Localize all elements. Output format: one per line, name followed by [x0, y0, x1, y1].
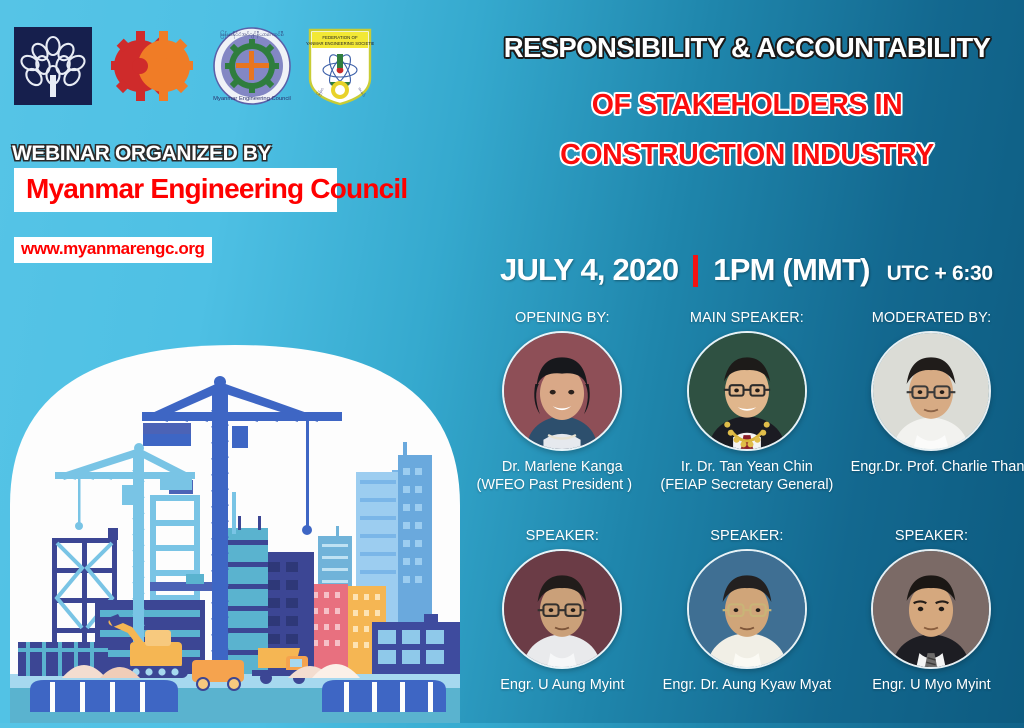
feiap-logo	[106, 27, 198, 110]
speaker-name: Engr. Dr. Aung Kyaw Myat	[663, 676, 831, 694]
construction-site-illustration	[0, 330, 470, 723]
svg-text:Myanmar Engineering Council: Myanmar Engineering Council	[213, 96, 291, 102]
event-datetime: JULY 4, 2020 1PM (MMT) UTC + 6:30	[500, 252, 993, 288]
datetime-divider	[693, 255, 698, 287]
photo-aung-myint	[502, 549, 622, 669]
website-box: www.myanmarengc.org	[14, 237, 212, 263]
wfeo-logo	[14, 27, 92, 110]
svg-text:MYANMAR ENGINEERING SOCIETIES: MYANMAR ENGINEERING SOCIETIES	[306, 41, 374, 46]
photo-aung-kyaw-myat	[687, 549, 807, 669]
svg-text:FEDERATION OF: FEDERATION OF	[322, 35, 358, 40]
event-timezone: UTC + 6:30	[887, 262, 993, 286]
speaker-card-myo-myint: SPEAKER: Engr. U	[839, 528, 1024, 694]
website-url[interactable]: www.myanmarengc.org	[21, 240, 205, 259]
speaker-card-aung-myint: SPEAKER: Engr	[470, 528, 655, 694]
title-line-main: RESPONSIBILITY & ACCOUNTABILITY	[470, 34, 1024, 62]
speaker-role-label: SPEAKER:	[710, 528, 783, 544]
photo-charlie-than	[871, 331, 991, 451]
speaker-row-top: OPENING BY: Dr. Marlene Kanga (WFEO	[470, 310, 1024, 494]
speaker-row-bottom: SPEAKER: Engr	[470, 528, 1024, 694]
speaker-name: Ir. Dr. Tan Yean Chin	[681, 458, 813, 476]
logo-row: မြန်မာနိုင်ငံအင်ဂျင်နီယာကောင်စီ Myanmar …	[14, 26, 374, 111]
event-time: 1PM (MMT)	[713, 252, 869, 288]
speaker-card-tan-yean-chin: MAIN SPEAKER:	[655, 310, 840, 494]
speaker-affiliation: (FEIAP Secretary General)	[660, 476, 833, 494]
organized-by-label: WEBINAR ORGANIZED BY	[12, 142, 271, 166]
event-date: JULY 4, 2020	[500, 252, 678, 288]
right-panel: RESPONSIBILITY & ACCOUNTABILITY OF STAKE…	[470, 0, 1024, 723]
myanmar-engineering-council-seal: မြန်မာနိုင်ငံအင်ဂျင်နီယာကောင်စီ Myanmar …	[212, 26, 292, 111]
speaker-card-aung-kyaw-myat: SPEAKER: Engr	[655, 528, 840, 694]
speaker-affiliation: (WFEO Past President )	[477, 476, 633, 494]
photo-marlene-kanga	[502, 331, 622, 451]
speaker-role-label: MAIN SPEAKER:	[690, 310, 804, 326]
speaker-role-label: SPEAKER:	[526, 528, 599, 544]
federation-myanmar-engineering-societies-badge: FEDERATION OF MYANMAR ENGINEERING SOCIET…	[306, 26, 374, 111]
left-panel: မြန်မာနိုင်ငံအင်ဂျင်နီယာကောင်စီ Myanmar …	[0, 0, 470, 723]
title-line-sub-2: CONSTRUCTION INDUSTRY	[470, 141, 1024, 170]
speaker-name: Engr. U Myo Myint	[872, 676, 990, 694]
title-line-sub-1: OF STAKEHOLDERS IN	[470, 91, 1024, 120]
speaker-card-charlie-than: MODERATED BY:	[839, 310, 1024, 494]
organizer-name-box: Myanmar Engineering Council	[14, 168, 337, 212]
speaker-role-label: SPEAKER:	[895, 528, 968, 544]
speaker-role-label: MODERATED BY:	[872, 310, 991, 326]
speaker-card-marlene-kanga: OPENING BY: Dr. Marlene Kanga (WFEO	[470, 310, 655, 494]
speaker-name: Engr.Dr. Prof. Charlie Than	[851, 458, 1024, 476]
poster-title: RESPONSIBILITY & ACCOUNTABILITY OF STAKE…	[470, 34, 1024, 170]
organizer-name: Myanmar Engineering Council	[26, 175, 325, 203]
speaker-name: Dr. Marlene Kanga	[502, 458, 623, 476]
speaker-name: Engr. U Aung Myint	[500, 676, 624, 694]
photo-tan-yean-chin	[687, 331, 807, 451]
speaker-role-label: OPENING BY:	[515, 310, 610, 326]
photo-myo-myint	[871, 549, 991, 669]
